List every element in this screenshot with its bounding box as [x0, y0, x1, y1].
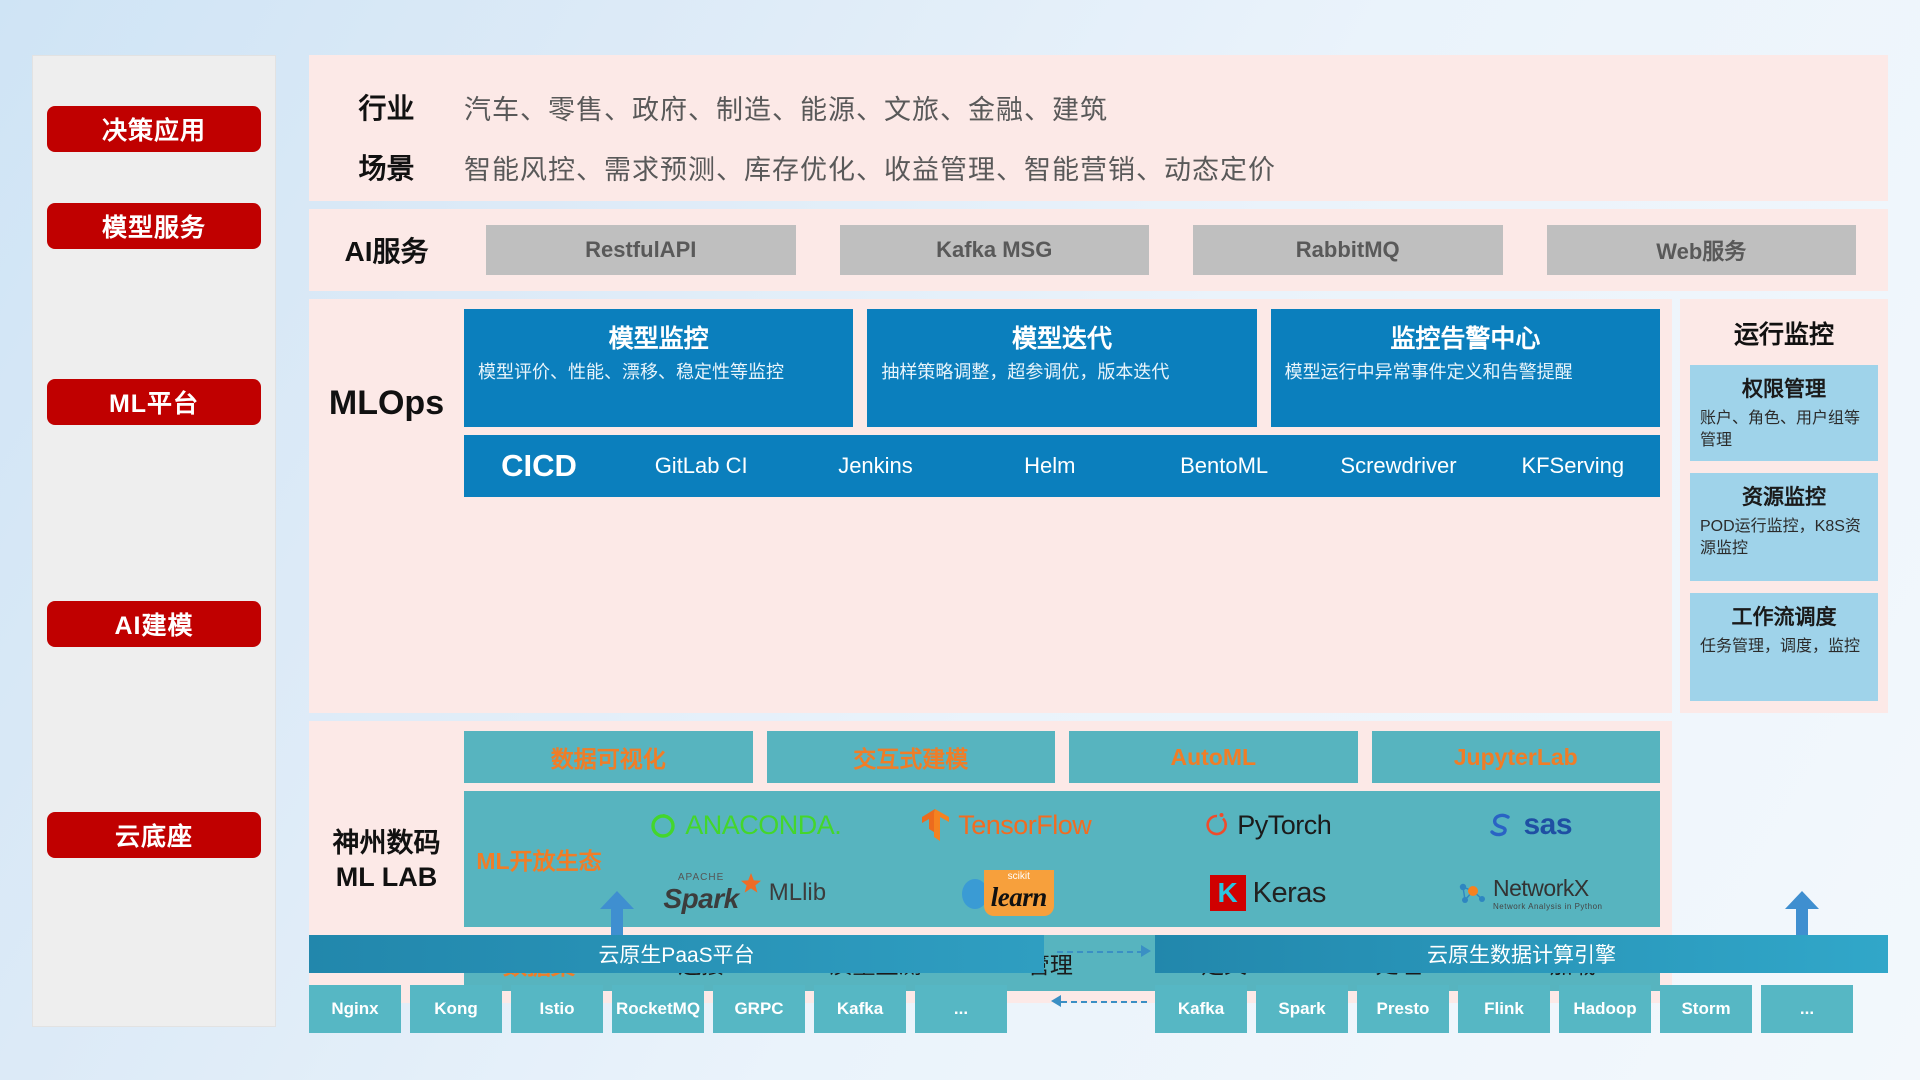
chip-kafka-engine[interactable]: Kafka: [1155, 985, 1247, 1033]
mlops-card-model-iteration[interactable]: 模型迭代 抽样策略调整，超参调优，版本迭代: [867, 309, 1256, 427]
lab-tab-data-visualization[interactable]: 数据可视化: [464, 731, 753, 783]
sas-label: sas: [1523, 808, 1572, 842]
industry-row: 行业 汽车、零售、政府、制造、能源、文旅、金融、建筑: [309, 77, 1888, 137]
ml-platform-row: MLOps 模型监控 模型评价、性能、漂移、稳定性等监控 模型迭代 抽样策略调整…: [309, 299, 1888, 713]
chip-kafka[interactable]: Kafka: [814, 985, 906, 1033]
monitor-card-permission[interactable]: 权限管理 账户、角色、用户组等管理: [1690, 365, 1878, 461]
rail-item-cloud-base[interactable]: 云底座: [47, 812, 261, 858]
scenario-value: 智能风控、需求预测、库存优化、收益管理、智能营销、动态定价: [464, 148, 1276, 187]
tensorflow-icon: [921, 808, 951, 842]
cicd-item-screwdriver[interactable]: Screwdriver: [1311, 455, 1485, 477]
rail-item-ai-modeling[interactable]: AI建模: [47, 601, 261, 647]
cicd-item-gitlab-ci[interactable]: GitLab CI: [614, 455, 788, 477]
chip-kong[interactable]: Kong: [410, 985, 502, 1033]
ai-service-band: AI服务 RestfulAPI Kafka MSG RabbitMQ Web服务: [309, 209, 1888, 291]
chip-presto[interactable]: Presto: [1357, 985, 1449, 1033]
lab-tab-interactive-modeling[interactable]: 交互式建模: [767, 731, 1056, 783]
runtime-monitor-panel: 运行监控 权限管理 账户、角色、用户组等管理 资源监控 POD运行监控，K8S资…: [1680, 299, 1888, 713]
mlops-band: MLOps 模型监控 模型评价、性能、漂移、稳定性等监控 模型迭代 抽样策略调整…: [309, 299, 1672, 713]
mlops-card-model-monitoring[interactable]: 模型监控 模型评价、性能、漂移、稳定性等监控: [464, 309, 853, 427]
sas-logo: sas: [1486, 808, 1572, 842]
cloud-base-layer: 云原生PaaS平台 云原生数据计算引擎 Nginx Kong Istio Roc…: [309, 893, 1888, 1025]
service-web[interactable]: Web服务: [1547, 225, 1857, 275]
anaconda-label: ANACONDA.: [685, 810, 841, 841]
arrow-up-paas-icon: [584, 889, 654, 935]
spark-star-icon: [740, 873, 762, 895]
chip-grpc[interactable]: GRPC: [713, 985, 805, 1033]
service-kafka-msg[interactable]: Kafka MSG: [840, 225, 1150, 275]
lab-tab-jupyterlab[interactable]: JupyterLab: [1372, 731, 1661, 783]
anaconda-logo: ANACONDA.: [648, 810, 841, 841]
main-column: 行业 汽车、零售、政府、制造、能源、文旅、金融、建筑 场景 智能风控、需求预测、…: [309, 55, 1888, 1003]
rail-item-decision-app[interactable]: 决策应用: [47, 106, 261, 152]
arrow-up-engine-icon: [1769, 889, 1839, 935]
industry-value: 汽车、零售、政府、制造、能源、文旅、金融、建筑: [464, 88, 1108, 127]
layer-rail: 决策应用 模型服务 ML平台 AI建模 云底座: [32, 55, 276, 1027]
ml-ecosystem-label: ML开放生态: [464, 842, 614, 876]
decision-app-band: 行业 汽车、零售、政府、制造、能源、文旅、金融、建筑 场景 智能风控、需求预测、…: [309, 55, 1888, 201]
card-desc: 模型运行中异常事件定义和告警提醒: [1285, 361, 1646, 384]
ai-service-label: AI服务: [309, 230, 464, 270]
architecture-diagram: 决策应用 模型服务 ML平台 AI建模 云底座 行业 汽车、零售、政府、制造、能…: [0, 0, 1920, 1080]
service-restful-api[interactable]: RestfulAPI: [486, 225, 796, 275]
engine-chip-list: Kafka Spark Presto Flink Hadoop Storm ..…: [1155, 985, 1853, 1033]
card-title: 模型迭代: [881, 319, 1242, 355]
mlops-label: MLOps: [309, 309, 464, 497]
chip-more-engine[interactable]: ...: [1761, 985, 1853, 1033]
tensorflow-label: TensorFlow: [958, 810, 1091, 841]
connector-arrow-right: [1141, 945, 1151, 957]
monitor-card-workflow[interactable]: 工作流调度 任务管理，调度，监控: [1690, 593, 1878, 701]
pytorch-label: PyTorch: [1237, 810, 1331, 841]
card-desc: 任务管理，调度，监控: [1700, 636, 1868, 658]
chip-flink[interactable]: Flink: [1458, 985, 1550, 1033]
tensorflow-logo: TensorFlow: [921, 808, 1091, 842]
apache-label: APACHE: [678, 872, 724, 883]
connector-arrow-left: [1051, 995, 1061, 1007]
ai-service-items: RestfulAPI Kafka MSG RabbitMQ Web服务: [464, 225, 1888, 275]
card-title: 资源监控: [1700, 481, 1868, 511]
service-rabbitmq[interactable]: RabbitMQ: [1193, 225, 1503, 275]
card-title: 监控告警中心: [1285, 319, 1646, 355]
lab-tab-automl[interactable]: AutoML: [1069, 731, 1358, 783]
card-title: 模型监控: [478, 319, 839, 355]
rail-item-model-service[interactable]: 模型服务: [47, 203, 261, 249]
card-desc: 账户、角色、用户组等管理: [1700, 408, 1868, 451]
chip-nginx[interactable]: Nginx: [309, 985, 401, 1033]
chip-hadoop[interactable]: Hadoop: [1559, 985, 1651, 1033]
card-title: 工作流调度: [1700, 601, 1868, 631]
mlops-card-alert-center[interactable]: 监控告警中心 模型运行中异常事件定义和告警提醒: [1271, 309, 1660, 427]
chip-istio[interactable]: Istio: [511, 985, 603, 1033]
data-compute-engine-bar[interactable]: 云原生数据计算引擎: [1155, 935, 1888, 973]
chip-spark[interactable]: Spark: [1256, 985, 1348, 1033]
monitor-card-resource[interactable]: 资源监控 POD运行监控，K8S资源监控: [1690, 473, 1878, 581]
paas-chip-list: Nginx Kong Istio RocketMQ GRPC Kafka ...: [309, 985, 1007, 1033]
card-desc: 抽样策略调整，超参调优，版本迭代: [881, 361, 1242, 384]
card-desc: POD运行监控，K8S资源监控: [1700, 516, 1868, 559]
pytorch-icon: [1204, 810, 1230, 840]
anaconda-icon: [648, 810, 678, 840]
card-title: 权限管理: [1700, 373, 1868, 403]
pytorch-logo: PyTorch: [1204, 810, 1331, 841]
chip-rocketmq[interactable]: RocketMQ: [612, 985, 704, 1033]
cicd-item-kfserving[interactable]: KFServing: [1486, 455, 1660, 477]
cicd-label: CICD: [464, 448, 614, 484]
scikit-label: scikit: [1008, 871, 1030, 882]
sas-icon: [1486, 810, 1516, 840]
cicd-item-bentoml[interactable]: BentoML: [1137, 455, 1311, 477]
chip-more-paas[interactable]: ...: [915, 985, 1007, 1033]
scenario-row: 场景 智能风控、需求预测、库存优化、收益管理、智能营销、动态定价: [309, 137, 1888, 197]
connector-dashed-bottom: [1061, 1001, 1147, 1003]
scenario-label: 场景: [309, 147, 464, 187]
cicd-item-jenkins[interactable]: Jenkins: [788, 455, 962, 477]
rail-item-ml-platform[interactable]: ML平台: [47, 379, 261, 425]
paas-platform-bar[interactable]: 云原生PaaS平台: [309, 935, 1044, 973]
cicd-item-helm[interactable]: Helm: [963, 455, 1137, 477]
cicd-bar: CICD GitLab CI Jenkins Helm BentoML Scre…: [464, 435, 1660, 497]
runtime-monitor-title: 运行监控: [1690, 315, 1878, 351]
ml-lab-label-line2: ML LAB: [336, 861, 438, 895]
chip-storm[interactable]: Storm: [1660, 985, 1752, 1033]
ml-lab-label-line1: 神州数码: [333, 827, 441, 861]
card-desc: 模型评价、性能、漂移、稳定性等监控: [478, 361, 839, 384]
connector-dashed-top: [1057, 951, 1143, 953]
industry-label: 行业: [309, 87, 464, 127]
